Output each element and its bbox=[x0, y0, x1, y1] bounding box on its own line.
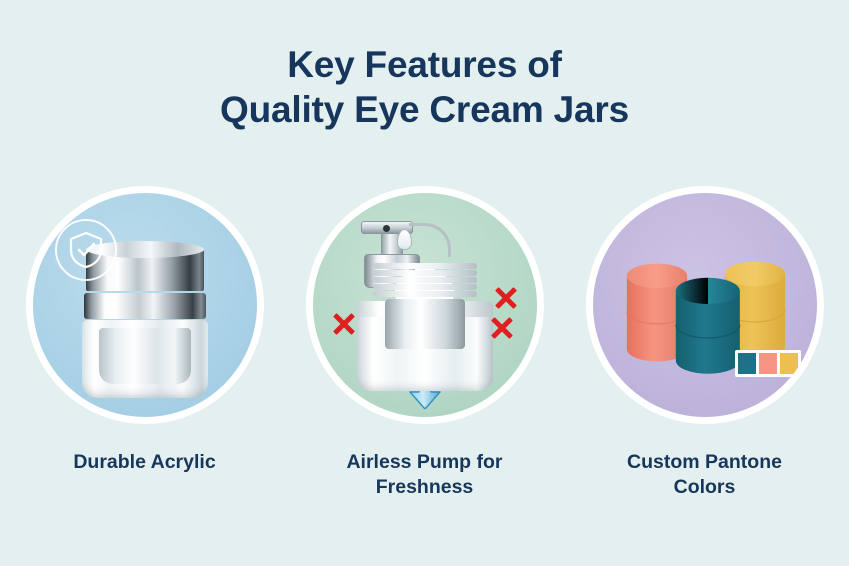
pump-tube bbox=[409, 223, 451, 257]
jar-inner-chamber bbox=[385, 299, 465, 349]
colored-jars-group bbox=[593, 193, 817, 417]
jar-body bbox=[357, 317, 493, 391]
feature-caption-airless-pump: Airless Pump for Freshness bbox=[300, 450, 550, 500]
feature-panels: Durable Acrylic bbox=[0, 186, 849, 500]
jar-teal bbox=[675, 278, 739, 374]
swatch-chip-yellow bbox=[780, 353, 798, 374]
droplet-icon bbox=[397, 229, 412, 250]
feature-panel-custom-pantone-colors: Custom Pantone Colors bbox=[581, 186, 829, 500]
feature-circle-airless-pump bbox=[306, 186, 544, 424]
feature-panel-airless-pump: Airless Pump for Freshness bbox=[301, 186, 549, 500]
feature-panel-durable-acrylic: Durable Acrylic bbox=[21, 186, 269, 475]
jar-threads bbox=[373, 263, 477, 301]
swatch-chip-coral bbox=[759, 353, 777, 374]
page-title-line1: Key Features of bbox=[287, 44, 562, 85]
x-mark-icon bbox=[331, 311, 357, 337]
feature-caption-durable-acrylic: Durable Acrylic bbox=[20, 450, 270, 475]
page-title-line2: Quality Eye Cream Jars bbox=[0, 87, 849, 132]
acrylic-jar-illustration bbox=[33, 193, 257, 417]
caption-text-line1: Custom Pantone bbox=[627, 451, 782, 473]
page-title: Key Features of Quality Eye Cream Jars bbox=[0, 42, 849, 132]
caption-text-line1: Airless Pump for bbox=[346, 451, 502, 473]
x-mark-icon bbox=[489, 315, 515, 341]
caption-text: Durable Acrylic bbox=[73, 451, 215, 473]
caption-text-line2: Freshness bbox=[376, 476, 474, 498]
airless-jar bbox=[357, 263, 493, 391]
swatch-chip-teal bbox=[738, 353, 756, 374]
colored-jars-illustration bbox=[593, 193, 817, 417]
pantone-color-swatch bbox=[735, 350, 801, 377]
airless-pump-illustration bbox=[313, 193, 537, 417]
feature-caption-custom-pantone-colors: Custom Pantone Colors bbox=[580, 450, 830, 500]
shield-check-icon bbox=[55, 219, 117, 281]
jar-base bbox=[82, 320, 208, 398]
x-mark-icon bbox=[493, 285, 519, 311]
jar-collar bbox=[84, 293, 206, 319]
caption-text-line2: Colors bbox=[674, 476, 736, 498]
feature-circle-custom-pantone-colors bbox=[586, 186, 824, 424]
feature-circle-durable-acrylic bbox=[26, 186, 264, 424]
